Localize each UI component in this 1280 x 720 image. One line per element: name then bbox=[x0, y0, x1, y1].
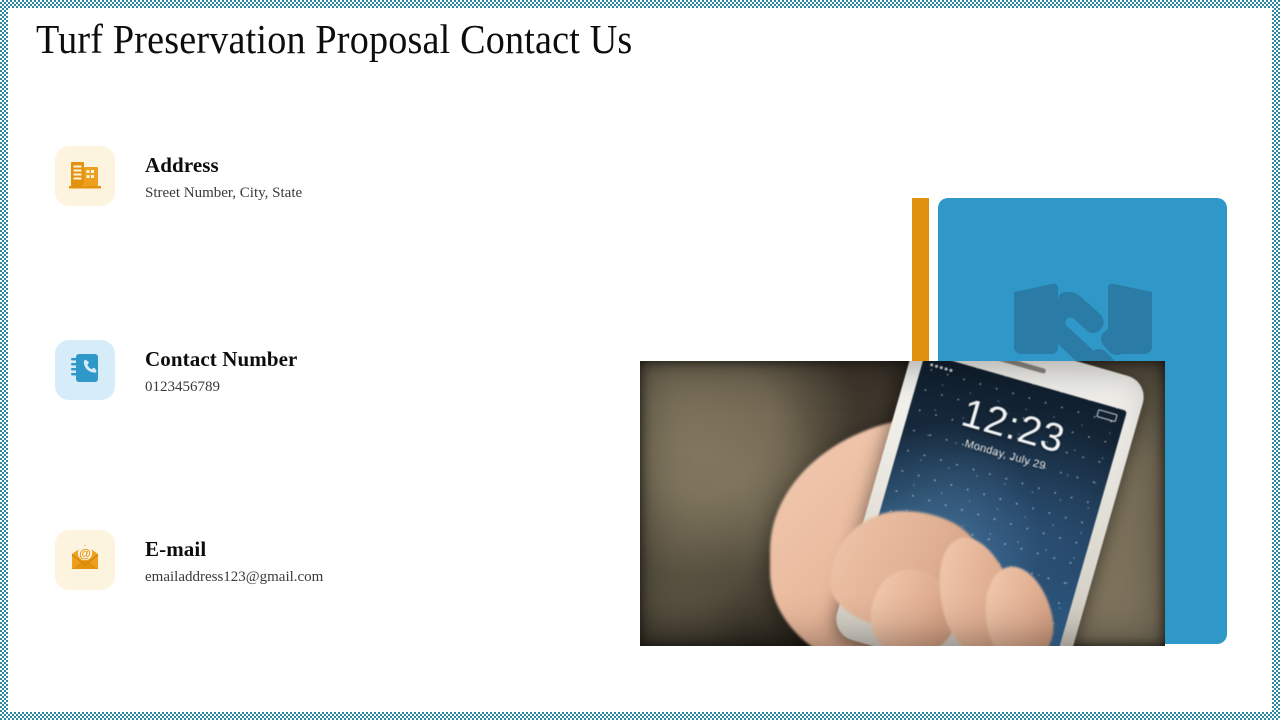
phone-text-block: Contact Number 0123456789 bbox=[145, 340, 297, 398]
slide-border-right bbox=[1272, 0, 1280, 720]
phone-label: Contact Number bbox=[145, 346, 297, 372]
photo-content: 12:23 Monday, July 29 slide to unlock bbox=[640, 361, 1165, 646]
email-value: emailaddress123@gmail.com bbox=[145, 566, 323, 588]
address-text-block: Address Street Number, City, State bbox=[145, 146, 302, 204]
earpiece-speaker bbox=[989, 361, 1046, 374]
phone-book-icon bbox=[67, 350, 103, 391]
slide-border-top bbox=[0, 0, 1280, 8]
address-icon-tile bbox=[55, 146, 115, 206]
contact-row-phone: Contact Number 0123456789 bbox=[55, 340, 297, 400]
slide-border-left bbox=[0, 0, 8, 720]
phone-value: 0123456789 bbox=[145, 376, 297, 398]
hand-holding-smartphone-photo: 12:23 Monday, July 29 slide to unlock bbox=[640, 361, 1165, 646]
contact-row-email: @ E-mail emailaddress123@gmail.com bbox=[55, 530, 323, 590]
phone-icon-tile bbox=[55, 340, 115, 400]
svg-text:@: @ bbox=[79, 546, 91, 560]
building-icon bbox=[67, 156, 103, 197]
orange-accent-bar bbox=[912, 198, 929, 361]
email-text-block: E-mail emailaddress123@gmail.com bbox=[145, 530, 323, 588]
address-label: Address bbox=[145, 152, 302, 178]
email-label: E-mail bbox=[145, 536, 323, 562]
slide-contact-us: Turf Preservation Proposal Contact Us bbox=[0, 0, 1280, 720]
email-icon-tile: @ bbox=[55, 530, 115, 590]
address-value: Street Number, City, State bbox=[145, 182, 302, 204]
slide-border-bottom bbox=[0, 712, 1280, 720]
page-title: Turf Preservation Proposal Contact Us bbox=[36, 14, 632, 64]
contact-row-address: Address Street Number, City, State bbox=[55, 146, 302, 206]
email-envelope-icon: @ bbox=[67, 540, 103, 581]
